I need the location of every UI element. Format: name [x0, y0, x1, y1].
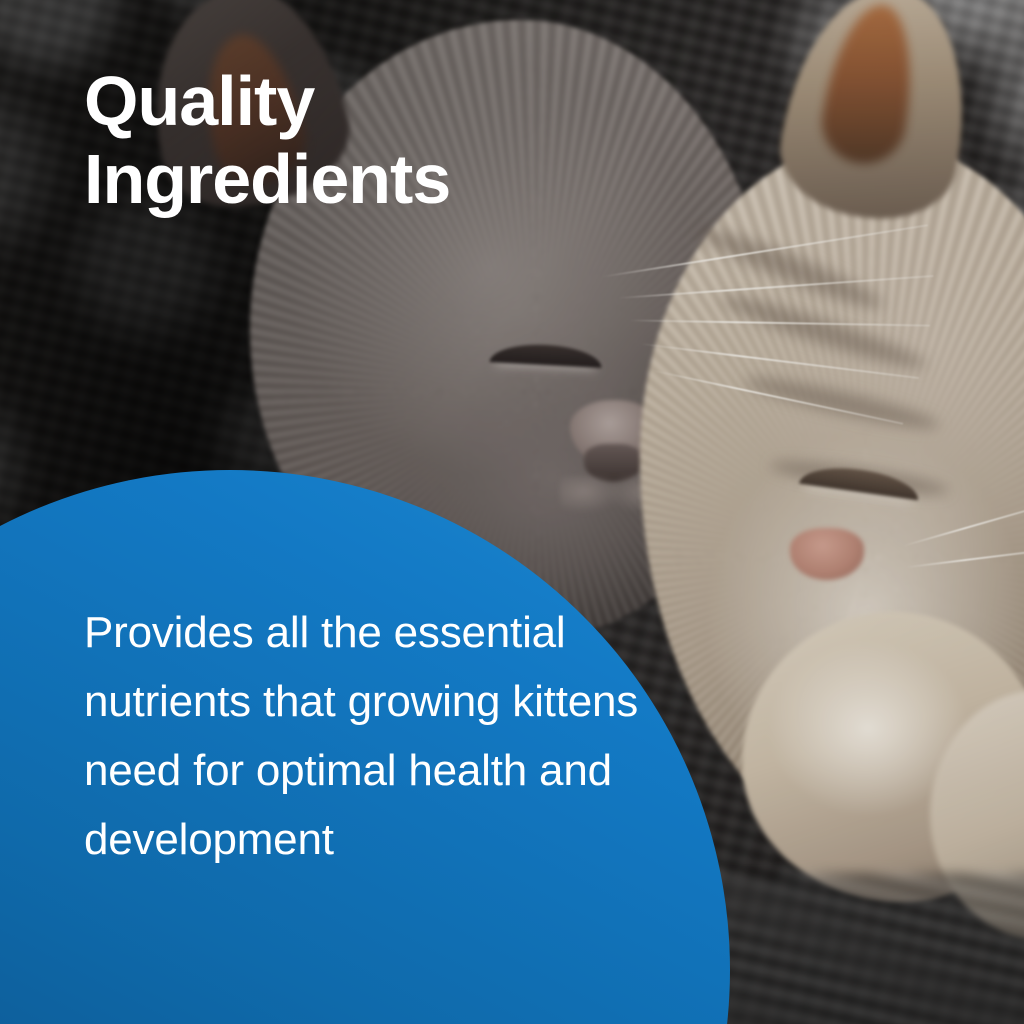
headline-line-1: Quality: [84, 62, 704, 140]
body-copy: Provides all the essential nutrients tha…: [84, 598, 664, 874]
page-title: Quality Ingredients: [84, 62, 704, 219]
headline-line-2: Ingredients: [84, 140, 704, 218]
quality-ingredients-card: Quality Ingredients Provides all the ess…: [0, 0, 1024, 1024]
